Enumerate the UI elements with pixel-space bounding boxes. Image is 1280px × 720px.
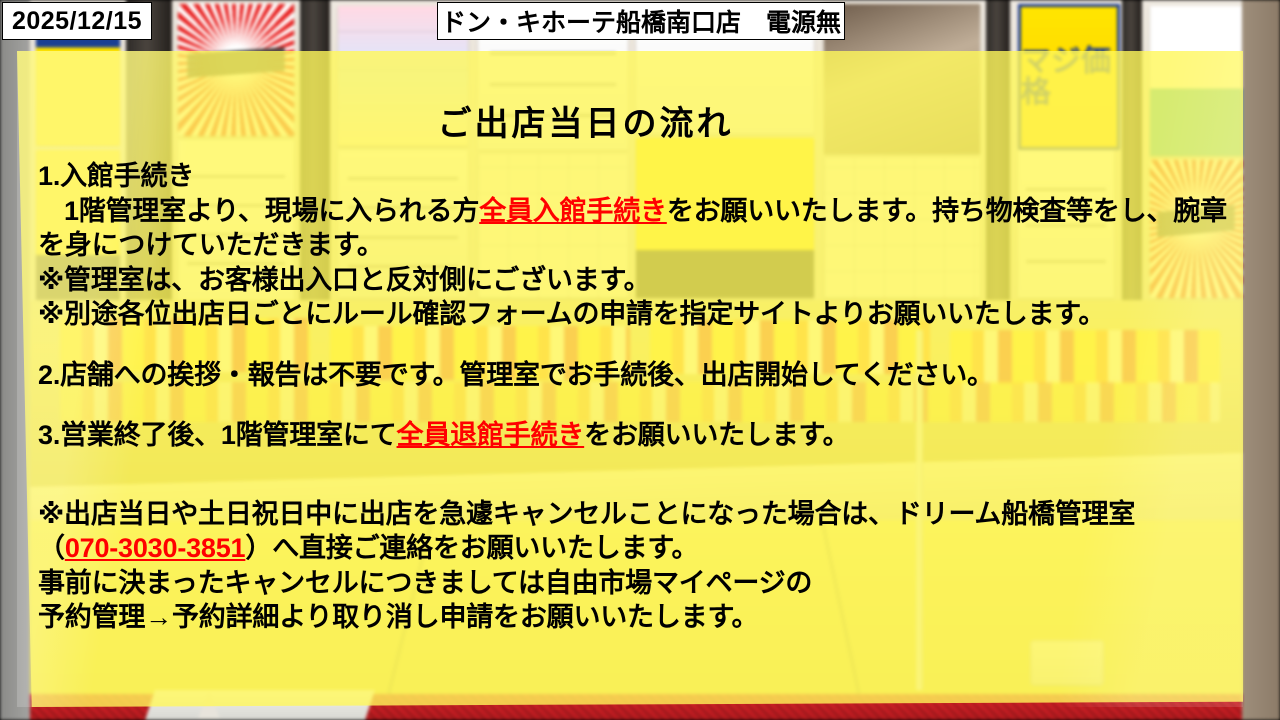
contact-phone-number[interactable]: 070-3030-3851 [65,533,246,563]
spacer [38,453,1243,479]
cancel-line-4: 予約管理→予約詳細より取り消し申請をお願いいたします。 [38,602,758,632]
store-label-box: ドン・キホーテ船橋南口店 電源無 [437,2,845,40]
step-1: 1.入館手続き 1階管理室より、現場に入られる方全員入館手続きをお願いいたします… [38,159,1243,332]
wall-right [1242,0,1280,720]
spacer [38,479,1243,497]
step-1-highlight-entry-procedure: 全員入館手続き [479,196,667,226]
slide-screenshot: マジ価格 2025/12/15 ドン・キホーテ船橋南口店 電源無 ご出店 [0,0,1280,720]
paren-open: （ [38,533,65,563]
step-3: 3.営業終了後、1階管理室にて全員退館手続きをお願いいたします。 [38,418,1243,453]
step-3-post: をお願いいたします。 [584,420,849,450]
date-label-text: 2025/12/15 [12,7,142,36]
cancel-line-2-rest: へ直接ご連絡をお願いいたします。 [272,533,698,563]
spacer [38,332,1243,358]
date-label-box: 2025/12/15 [2,2,152,40]
note-1: ※管理室は、お客様出入口と反対側にございます。 [38,265,650,295]
slide-text-block: ご出店当日の流れ 1.入館手続き 1階管理室より、現場に入られる方全員入館手続き… [38,96,1243,635]
paren-close: ） [245,533,272,563]
slide-heading: ご出店当日の流れ [38,96,1243,145]
step-3-pre: 3.営業終了後、1階管理室にて [38,420,397,450]
step-3-highlight-exit-procedure: 全員退館手続き [397,420,585,450]
spacer [38,392,1243,418]
store-label-text: ドン・キホーテ船橋南口店 電源無 [441,3,841,39]
note-2: ※別途各位出店日ごとにルール確認フォームの申請を指定サイトよりお願いいたします。 [38,299,1105,329]
cancel-line-3: 事前に決まったキャンセルにつきましては自由市場マイページの [38,568,812,598]
step-2: 2.店舗への挨拶・報告は不要です。管理室でお手続後、出店開始してください。 [38,358,1243,393]
cancellation-notice: ※出店当日や土日祝日中に出店を急遽キャンセルことになった場合は、ドリーム船橋管理… [38,497,1243,635]
step-1-body-pre: 1階管理室より、現場に入られる方 [64,196,479,226]
step-1-title: 1.入館手続き [38,161,194,191]
cancel-line-1: ※出店当日や土日祝日中に出店を急遽キャンセルことになった場合は、ドリーム船橋管理… [38,499,1135,529]
